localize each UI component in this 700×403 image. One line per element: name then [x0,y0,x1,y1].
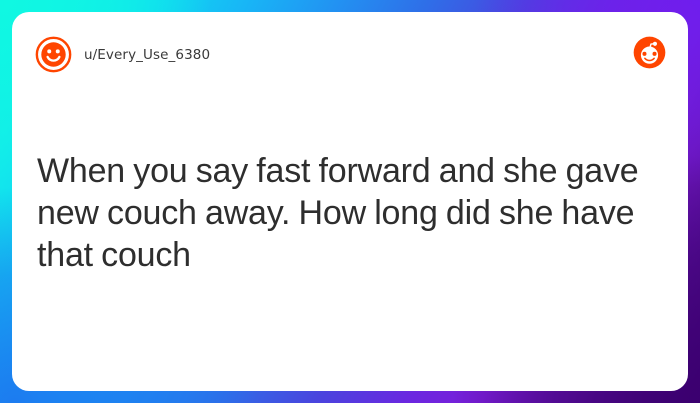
post-author-username[interactable]: u/Every_Use_6380 [84,48,210,63]
screenshot-stage: u/Every_Use_6380 When you say fast forwa… [0,0,700,403]
smiley-face-avatar-icon[interactable] [35,36,72,73]
reddit-snoo-logo-icon[interactable] [633,36,666,69]
post-body-text: When you say fast forward and she gave n… [37,150,649,276]
post-header: u/Every_Use_6380 [12,12,688,86]
reddit-post-card: u/Every_Use_6380 When you say fast forwa… [12,12,688,391]
